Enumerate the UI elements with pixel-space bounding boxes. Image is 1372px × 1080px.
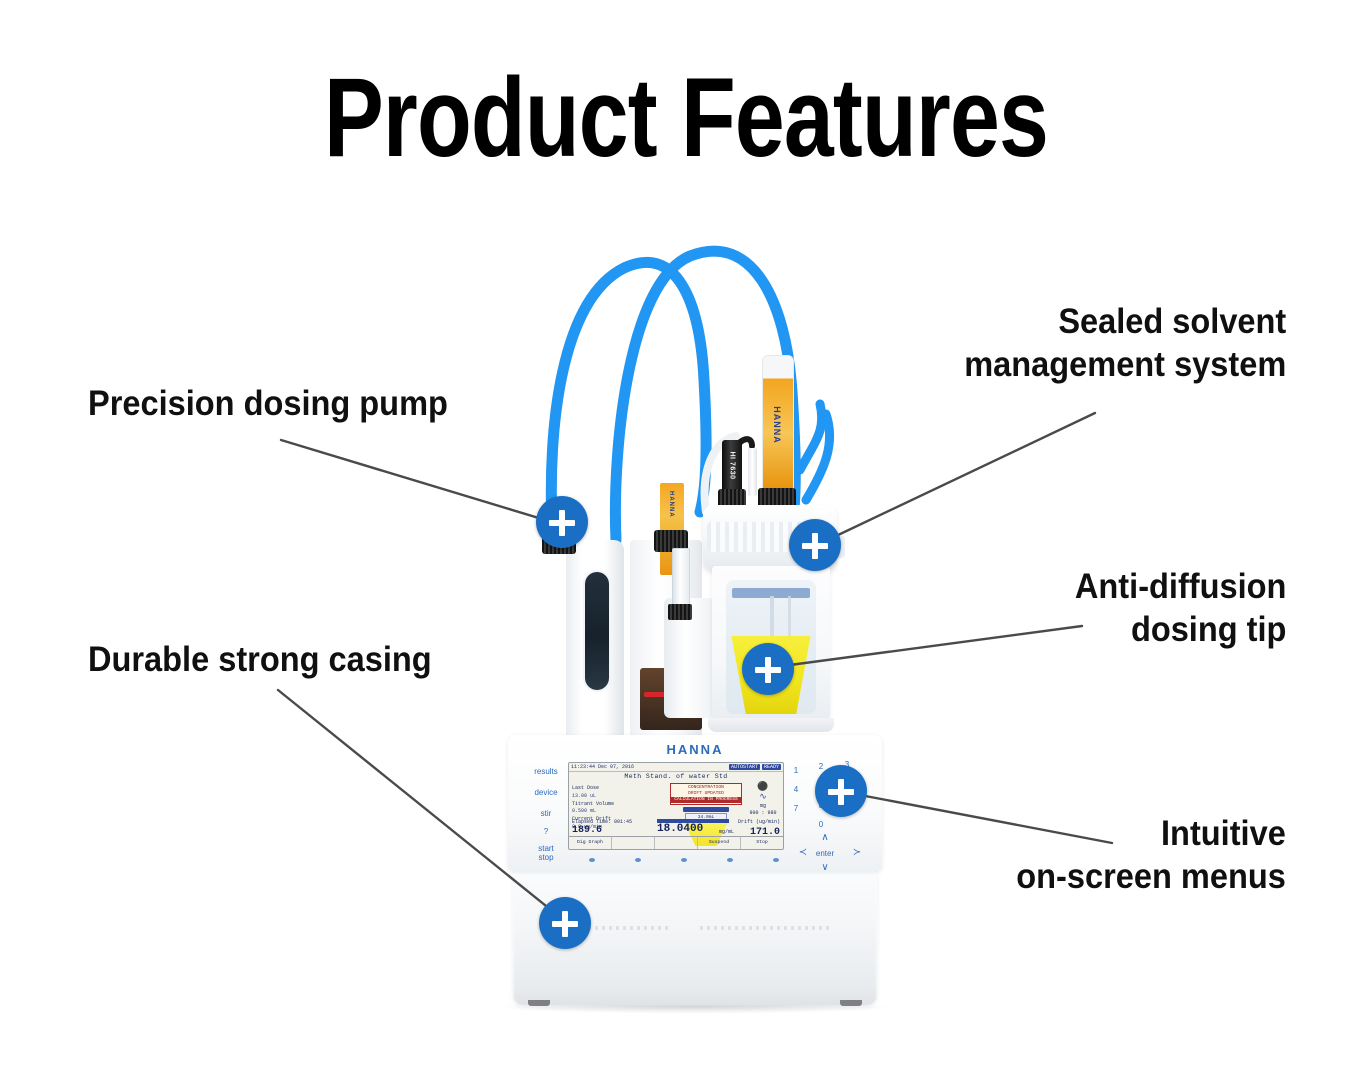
lcd-secondary-unit: mg/mL <box>719 829 734 835</box>
lcd-chip-ready: READY <box>762 764 781 770</box>
panel-led-5 <box>773 858 779 862</box>
keypad-key-1[interactable]: 1 <box>789 766 803 775</box>
brand-logo: HANNA <box>508 742 882 757</box>
keypad-key-4[interactable]: 4 <box>789 785 803 794</box>
base-foot-left <box>528 1000 550 1006</box>
lcd-progress-bar <box>683 807 729 812</box>
callout-label-durable-line1: Durable strong casing <box>88 638 432 681</box>
lcd-field-last-dose-value: 13.00 uL <box>572 793 668 801</box>
callout-label-anti-line2: dosing tip <box>1074 608 1286 651</box>
softkey-3[interactable] <box>655 837 698 849</box>
key-help[interactable]: ? <box>524 828 568 837</box>
nav-up-icon[interactable]: ∧ <box>817 832 833 843</box>
softkey-dlg-graph[interactable]: Dig Graph <box>569 837 612 849</box>
callout-label-sealed-line2: management system <box>964 343 1286 386</box>
panel-led-2 <box>635 858 641 862</box>
panel-led-4 <box>727 858 733 862</box>
lcd-stir-icon: ∿ <box>746 793 780 803</box>
lcd-right-meta-label: mg <box>746 803 780 811</box>
lcd-chip-autostart: AUTOSTART <box>729 764 760 770</box>
lcd-status-bar: 11:23:44 Dec 07, 2016 AUTOSTART READY <box>569 763 783 772</box>
nav-enter-label[interactable]: enter <box>808 849 842 858</box>
keypad-key-7[interactable]: 7 <box>789 804 803 813</box>
lcd-softkey-bar: Dig Graph Suspend Stop <box>569 836 783 849</box>
product-photo-illustration: HANNA HANNA HI 7630 HANNA results device… <box>0 0 1372 1080</box>
lcd-screen[interactable]: 11:23:44 Dec 07, 2016 AUTOSTART READY Me… <box>568 762 784 850</box>
desiccant-cartridge-label: HANNA <box>772 400 782 450</box>
softkey-2[interactable] <box>612 837 655 849</box>
lcd-right-meta-value: 900 : 980 <box>746 810 780 818</box>
lcd-banner-line2: DRIFT UPDATED <box>688 791 724 796</box>
titration-vessel-foot <box>708 718 834 732</box>
lcd-method-title: Meth Stand. of water Std <box>569 773 783 780</box>
callout-label-intuitive-line2: on-screen menus <box>1016 855 1286 898</box>
burette-syringe-cap <box>668 604 692 620</box>
lcd-primary-value: 189.6 <box>572 825 602 836</box>
lcd-banner-line1: CONCENTRATION <box>688 785 724 790</box>
lcd-field-last-dose-name: Last Dose <box>572 785 668 793</box>
callout-label-anti-diffusion-dosing-tip: Anti-diffusion dosing tip <box>1074 565 1286 652</box>
softkey-stop[interactable]: Stop <box>741 837 783 849</box>
base-foot-right <box>840 1000 862 1006</box>
key-device[interactable]: device <box>524 789 568 798</box>
callout-marker-anti-diffusion-dosing-tip[interactable] <box>742 643 794 695</box>
product-features-infographic: Product Features <box>0 0 1372 1080</box>
callout-label-durable-strong-casing: Durable strong casing <box>88 638 432 681</box>
lcd-drift-label: Drift (ug/min) <box>738 819 780 825</box>
lcd-elapsed-value: 001:45 <box>614 819 632 825</box>
lcd-field-titrant-name: Titrant Volume <box>572 801 668 809</box>
lcd-field-titrant-value: 0.500 mL <box>572 808 668 816</box>
key-results[interactable]: results <box>524 768 568 777</box>
callout-label-intuitive-on-screen-menus: Intuitive on-screen menus <box>1016 812 1286 899</box>
dosing-pump-window <box>585 572 609 690</box>
callout-marker-sealed-solvent-management-system[interactable] <box>789 519 841 571</box>
callout-label-precision-line1: Precision dosing pump <box>88 382 448 425</box>
lcd-right-panel: ⚫ ∿ mg 900 : 980 <box>746 783 780 818</box>
callout-label-intuitive-line1: Intuitive <box>1016 812 1286 855</box>
burette-syringe <box>672 548 690 608</box>
lcd-banner: CONCENTRATION DRIFT UPDATED CALCULATION … <box>670 783 742 805</box>
keypad-key-0[interactable]: 0 <box>814 820 828 829</box>
lcd-datetime: 11:23:44 Dec 07, 2016 <box>571 764 634 770</box>
panel-led-3 <box>681 858 687 862</box>
key-stir[interactable]: stir <box>524 810 568 819</box>
softkey-suspend[interactable]: Suspend <box>698 837 741 849</box>
lcd-secondary-value: 18.0400 <box>657 823 703 835</box>
nav-right-icon[interactable]: ≻ <box>849 847 865 858</box>
callout-marker-intuitive-on-screen-menus[interactable] <box>815 765 867 817</box>
callout-marker-durable-strong-casing[interactable] <box>539 897 591 949</box>
electrode-label: HI 7630 <box>729 448 736 484</box>
callout-label-sealed-line1: Sealed solvent <box>964 300 1286 343</box>
lcd-banner-line3: CALCULATION IN PROGRESS <box>671 797 741 803</box>
reagent-cartridge-mid-label: HANNA <box>668 491 674 515</box>
base-vent-right <box>700 926 830 930</box>
callout-label-precision-dosing-pump: Precision dosing pump <box>88 382 448 425</box>
panel-led-1 <box>589 858 595 862</box>
callout-marker-precision-dosing-pump[interactable] <box>536 496 588 548</box>
base-vent-left <box>588 926 672 930</box>
key-start-stop[interactable]: startstop <box>524 845 568 863</box>
callout-label-sealed-solvent-management-system: Sealed solvent management system <box>964 300 1286 387</box>
callout-label-anti-line1: Anti-diffusion <box>1074 565 1286 608</box>
dosing-tip-probe <box>748 448 757 496</box>
nav-down-icon[interactable]: ∨ <box>817 862 833 873</box>
